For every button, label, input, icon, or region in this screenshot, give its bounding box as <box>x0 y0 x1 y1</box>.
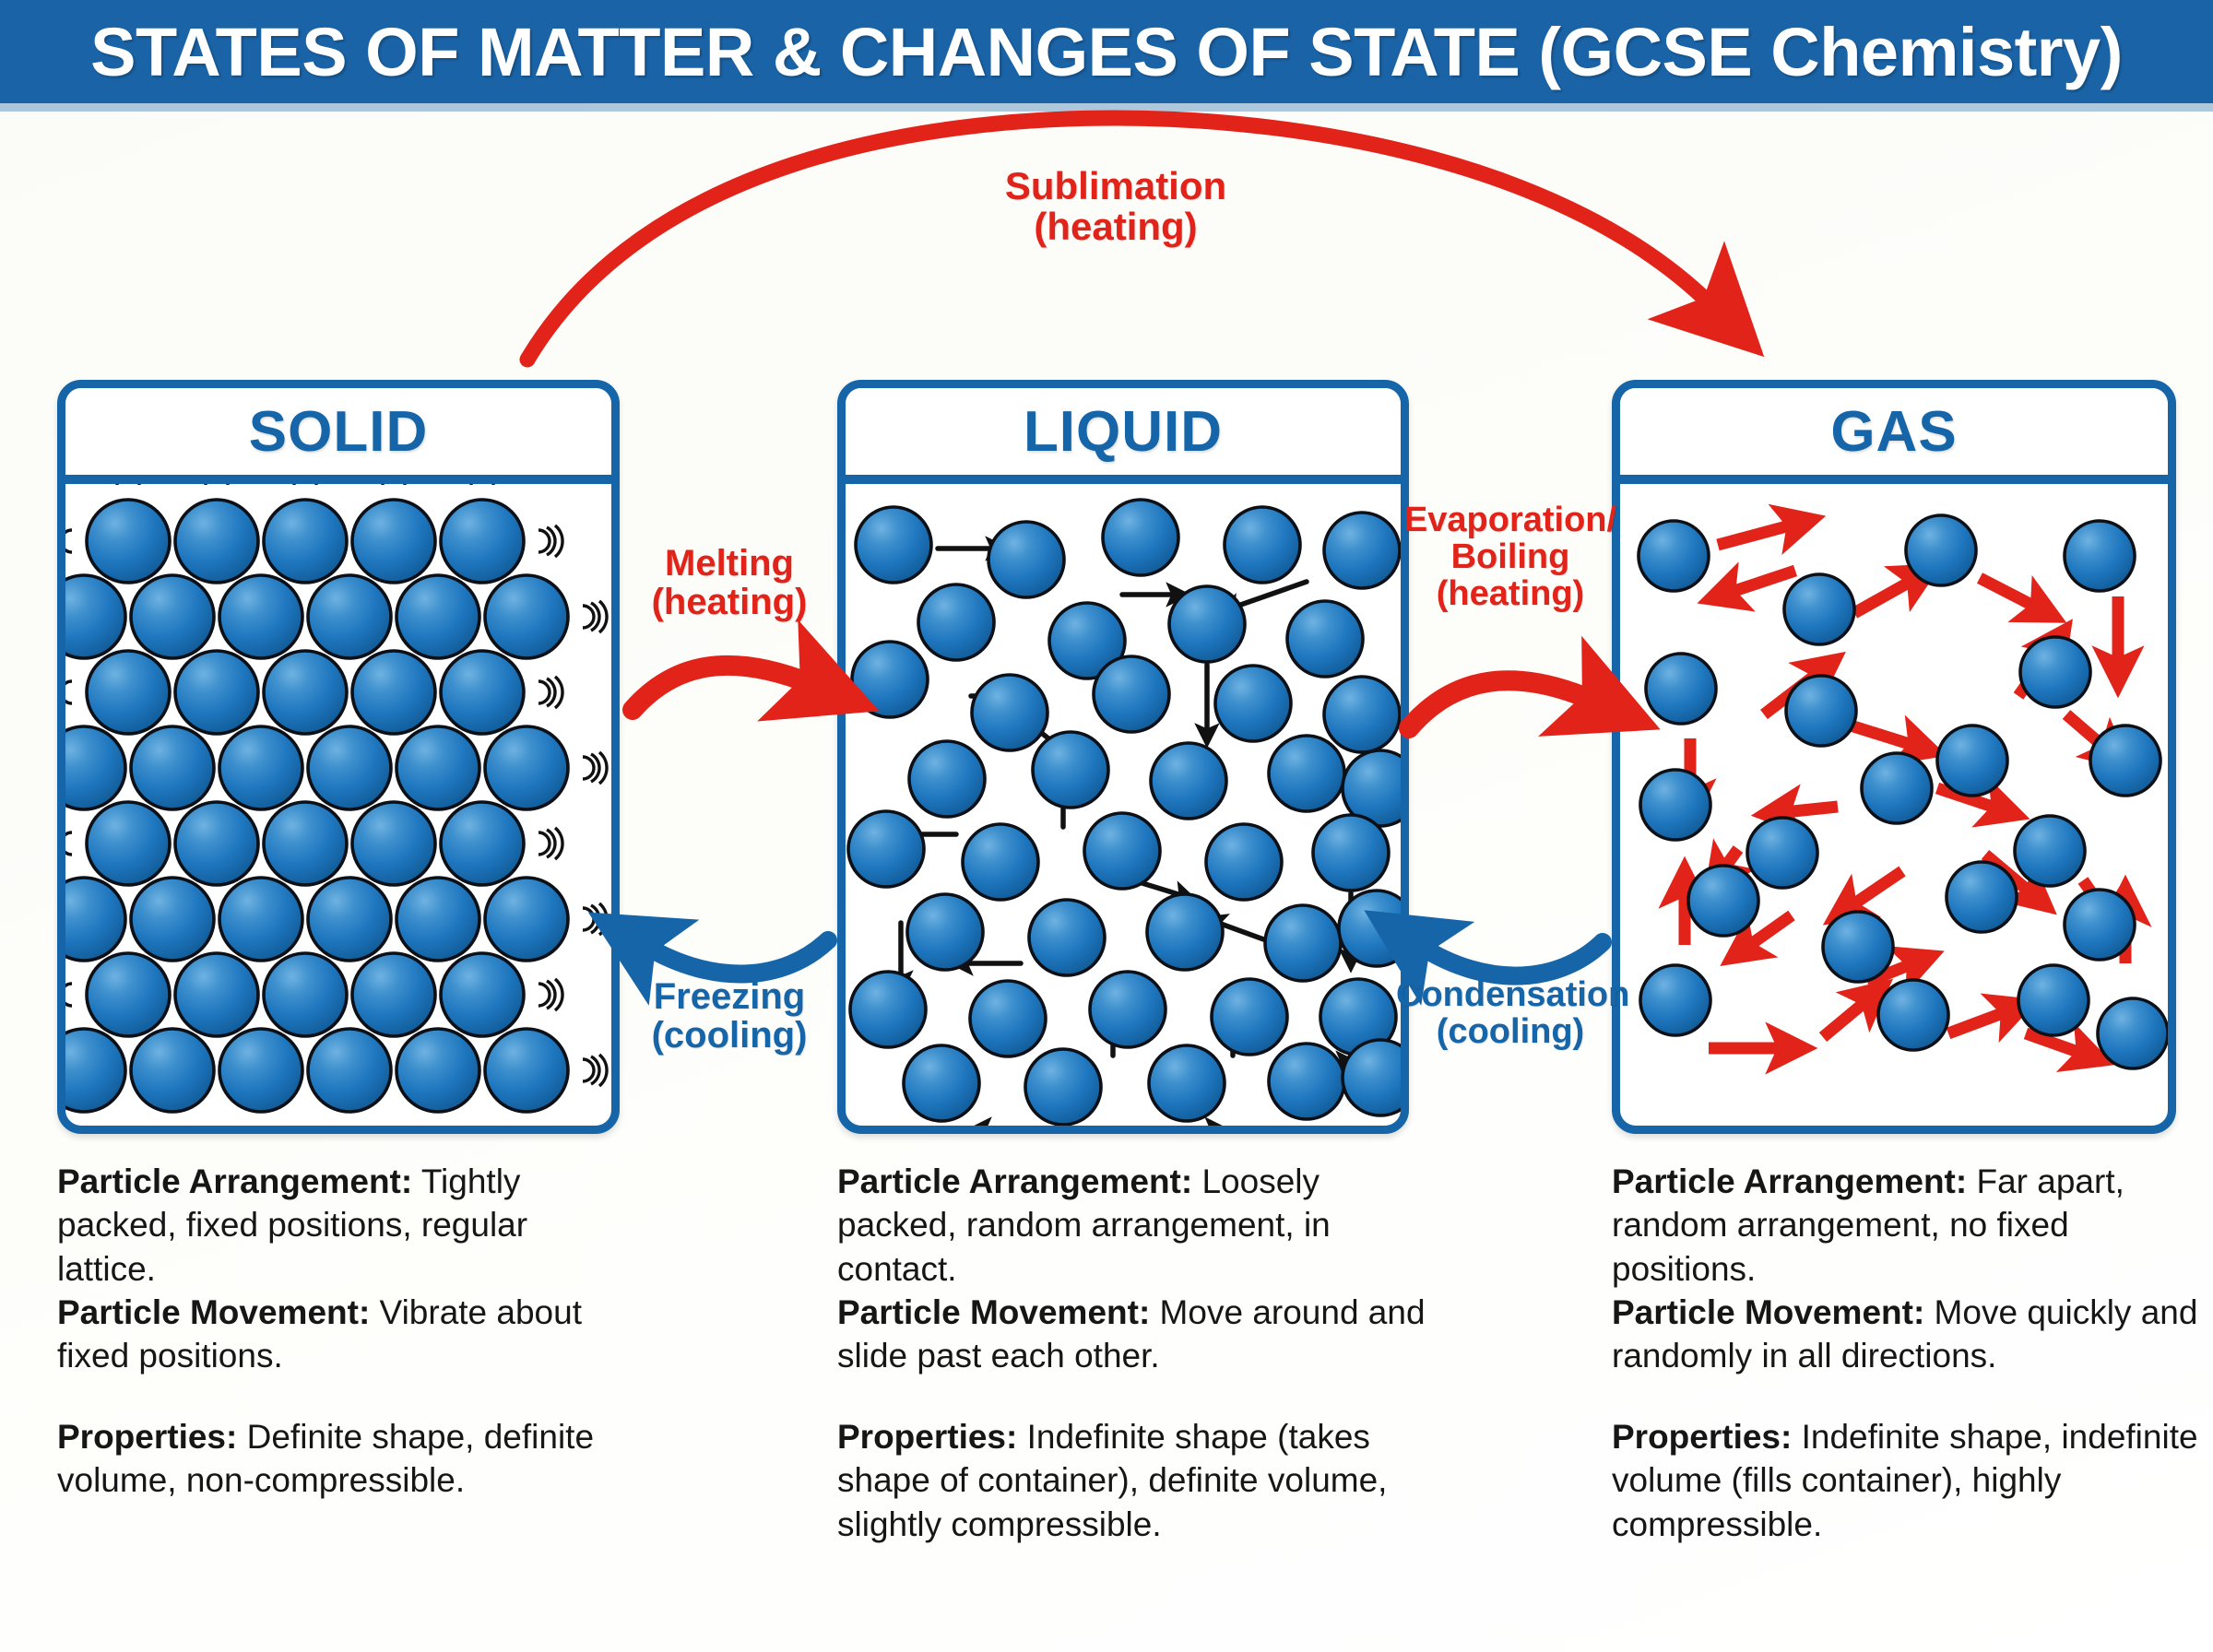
condensation-label: Condensation (cooling) <box>1396 977 1625 1051</box>
gas-motion-arrow-icon <box>1937 788 1998 808</box>
liquid-particle <box>1265 905 1341 981</box>
liquid-particle <box>1269 736 1344 811</box>
sublimation-label-line1: Sublimation <box>867 166 1365 206</box>
solid-particle <box>131 726 214 809</box>
solid-header: SOLID <box>65 388 611 484</box>
gas-particle <box>1646 654 1716 724</box>
liquid-particle <box>904 1045 979 1121</box>
solid-properties: Properties: Definite shape, definite vol… <box>57 1415 610 1503</box>
solid-particle <box>175 953 258 1036</box>
solid-particle <box>352 802 435 885</box>
solid-particle <box>87 500 170 583</box>
state-box-liquid[interactable]: LIQUID <box>837 380 1409 1134</box>
liquid-particle <box>852 642 928 717</box>
melting-label: Melting (heating) <box>620 544 839 621</box>
liquid-particle <box>1313 815 1389 891</box>
gas-particle-diagram <box>1620 484 2168 1126</box>
liquid-particle <box>970 981 1046 1056</box>
evaporation-boiling-label: Evaporation/ Boiling (heating) <box>1403 502 1617 613</box>
solid-particle-diagram <box>65 484 611 1126</box>
gas-motion-arrow-icon <box>1980 578 2037 608</box>
solid-particle <box>264 651 347 734</box>
solid-particle <box>441 500 524 583</box>
solid-particle <box>175 802 258 885</box>
liquid-particle <box>856 507 931 583</box>
vibration-line-icon <box>538 677 562 708</box>
gas-movement-label: Particle Movement: <box>1612 1293 1924 1331</box>
solid-particle <box>87 802 170 885</box>
evaporation-label-line2: Boiling <box>1403 539 1617 576</box>
liquid-particle <box>972 675 1047 750</box>
solid-particle <box>264 802 347 885</box>
liquid-particle <box>1103 500 1178 575</box>
solid-particle <box>441 802 524 885</box>
liquid-particle <box>1033 732 1108 808</box>
liquid-particle <box>963 824 1038 900</box>
liquid-motion-arrow-icon <box>1218 923 1279 945</box>
solid-particle <box>131 1029 214 1112</box>
solid-particle <box>219 1029 302 1112</box>
sublimation-label: Sublimation (heating) <box>867 166 1365 247</box>
solid-particle <box>264 500 347 583</box>
vibration-line-icon <box>290 484 321 485</box>
evaporation-label-line1: Evaporation/ <box>1403 502 1617 539</box>
vibration-line-icon <box>538 828 562 859</box>
liquid-particle <box>850 972 926 1047</box>
gas-motion-arrow-icon <box>1723 849 1738 869</box>
solid-particle <box>131 878 214 961</box>
solid-movement-label: Particle Movement: <box>57 1293 370 1331</box>
state-box-solid[interactable]: SOLID <box>57 380 620 1134</box>
gas-particle <box>1906 515 1976 585</box>
freezing-label: Freezing (cooling) <box>620 977 839 1055</box>
solid-particle <box>175 651 258 734</box>
liquid-particle <box>1269 1044 1344 1119</box>
liquid-particle <box>848 811 924 887</box>
gas-motion-arrow-icon <box>1747 915 1792 947</box>
gas-motion-arrow-icon <box>1948 1011 2007 1033</box>
solid-particle <box>219 726 302 809</box>
page-title: STATES OF MATTER & CHANGES OF STATE (GCS… <box>90 13 2123 91</box>
solid-particle <box>264 953 347 1036</box>
solid-particle <box>65 878 125 961</box>
liquid-particle <box>1090 972 1166 1047</box>
liquid-particle <box>1225 507 1300 583</box>
liquid-movement: Particle Movement: Move around and slide… <box>837 1291 1427 1378</box>
liquid-particle <box>1287 601 1363 677</box>
gas-particle <box>1878 980 1948 1050</box>
freezing-label-line1: Freezing <box>620 977 839 1016</box>
solid-properties-label: Properties: <box>57 1418 237 1456</box>
vibration-line-icon <box>201 484 232 485</box>
gas-motion-arrow-icon <box>1867 963 1913 982</box>
gas-desc-spacer <box>1612 1378 2202 1415</box>
gas-particles-svg <box>1620 484 2168 1126</box>
gas-particle <box>2098 998 2168 1068</box>
solid-particle <box>352 500 435 583</box>
liquid-particle <box>1169 586 1245 662</box>
gas-motion-arrow-icon <box>1985 855 2031 893</box>
gas-motion-arrow-icon <box>1718 525 1793 545</box>
gas-title: GAS <box>1830 399 1957 465</box>
gas-particle <box>2065 890 2135 960</box>
liquid-properties-label: Properties: <box>837 1418 1017 1456</box>
liquid-particle <box>1025 1049 1101 1125</box>
liquid-motion-arrow-icon <box>1133 880 1181 895</box>
solid-particle <box>485 726 568 809</box>
gas-arrangement: Particle Arrangement: Far apart, random … <box>1612 1160 2202 1291</box>
solid-particle <box>308 575 391 658</box>
gas-motion-arrow-icon <box>1851 871 1902 906</box>
solid-particles-svg <box>65 484 611 1126</box>
solid-particle <box>308 878 391 961</box>
liquid-particle <box>907 894 983 970</box>
gas-motion-arrow-icon <box>1823 1000 1867 1037</box>
freezing-arrow <box>645 940 828 974</box>
solid-particle <box>308 726 391 809</box>
gas-particle <box>1937 726 2007 796</box>
solid-arrangement: Particle Arrangement: Tightly packed, fi… <box>57 1160 610 1291</box>
condensation-label-line1: Condensation <box>1396 977 1625 1014</box>
vibration-line-icon <box>65 828 72 859</box>
liquid-particle <box>1094 656 1169 732</box>
solid-particle <box>308 1029 391 1112</box>
solid-particle <box>485 1029 568 1112</box>
gas-particle <box>1947 862 2017 932</box>
gas-motion-arrow-icon <box>2018 646 2053 696</box>
gas-particle <box>1639 521 1709 591</box>
gas-particle <box>1640 770 1710 840</box>
gas-properties-label: Properties: <box>1612 1418 1792 1456</box>
solid-particle <box>396 878 479 961</box>
vibration-line-icon <box>583 903 607 935</box>
gas-motion-arrow-icon <box>1784 807 1838 812</box>
liquid-particle <box>1324 513 1400 588</box>
vibration-line-icon <box>538 525 562 557</box>
liquid-motion-arrow-icon <box>1030 724 1076 761</box>
gas-particle <box>2015 816 2085 886</box>
liquid-particle <box>1049 603 1125 678</box>
gas-particle <box>2020 637 2090 707</box>
gas-description: Particle Arrangement: Far apart, random … <box>1612 1160 2202 1546</box>
sublimation-label-line2: (heating) <box>867 206 1365 247</box>
liquid-header: LIQUID <box>846 388 1401 484</box>
liquid-particle <box>1343 750 1401 826</box>
liquid-arrangement: Particle Arrangement: Loosely packed, ra… <box>837 1160 1427 1291</box>
solid-particle <box>219 878 302 961</box>
solid-particle <box>485 878 568 961</box>
vibration-line-icon <box>583 1055 607 1086</box>
vibration-line-icon <box>65 525 72 557</box>
solid-description: Particle Arrangement: Tightly packed, fi… <box>57 1160 610 1503</box>
liquid-properties: Properties: Indefinite shape (takes shap… <box>837 1415 1427 1546</box>
solid-particle <box>396 1029 479 1112</box>
liquid-particle <box>1206 824 1282 900</box>
solid-particle <box>441 651 524 734</box>
liquid-particle <box>1084 813 1160 889</box>
liquid-particle <box>1339 891 1401 966</box>
liquid-particle <box>909 741 985 817</box>
vibration-line-icon <box>112 484 144 485</box>
liquid-motion-arrow-icon <box>1233 582 1307 608</box>
gas-particle <box>1640 965 1710 1035</box>
gas-particle <box>1784 574 1854 644</box>
solid-particle <box>65 575 125 658</box>
solid-movement: Particle Movement: Vibrate about fixed p… <box>57 1291 610 1378</box>
solid-particle <box>352 651 435 734</box>
gas-motion-arrow-icon <box>2066 714 2107 749</box>
solid-desc-spacer <box>57 1378 610 1415</box>
solid-particle <box>87 953 170 1036</box>
gas-properties: Properties: Indefinite shape, indefinite… <box>1612 1415 2202 1546</box>
gas-particle <box>1747 818 1817 888</box>
solid-particle <box>131 575 214 658</box>
diagram-canvas: STATES OF MATTER & CHANGES OF STATE (GCS… <box>0 0 2213 1652</box>
vibration-line-icon <box>583 752 607 784</box>
solid-arrangement-label: Particle Arrangement: <box>57 1162 412 1200</box>
solid-title: SOLID <box>249 399 428 465</box>
gas-particle <box>1786 676 1856 746</box>
liquid-movement-label: Particle Movement: <box>837 1293 1150 1331</box>
solid-particle <box>352 953 435 1036</box>
solid-particle <box>396 575 479 658</box>
vibration-line-icon <box>467 484 498 485</box>
gas-particle <box>2018 965 2089 1035</box>
gas-arrangement-label: Particle Arrangement: <box>1612 1162 1967 1200</box>
gas-particle <box>1688 866 1758 936</box>
gas-motion-arrow-icon <box>1854 580 1913 613</box>
condensation-arrow <box>1420 942 1603 976</box>
liquid-arrangement-label: Particle Arrangement: <box>837 1162 1192 1200</box>
vibration-line-icon <box>583 601 607 632</box>
freezing-label-line2: (cooling) <box>620 1016 839 1055</box>
solid-particle <box>485 575 568 658</box>
vibration-line-icon <box>538 979 562 1010</box>
gas-motion-arrow-icon <box>1764 672 1819 714</box>
gas-motion-arrow-icon <box>2083 880 2109 917</box>
liquid-particle <box>1324 677 1400 752</box>
melting-label-line2: (heating) <box>620 583 839 621</box>
gas-particle <box>2065 521 2135 591</box>
solid-particle <box>175 500 258 583</box>
liquid-particle <box>1149 1045 1225 1121</box>
liquid-particle <box>988 522 1064 597</box>
liquid-particles-svg <box>846 484 1401 1126</box>
liquid-particle <box>1151 743 1226 819</box>
gas-particle <box>1823 912 1893 982</box>
liquid-particle <box>1320 979 1396 1055</box>
solid-particle <box>219 575 302 658</box>
gas-particle <box>2090 726 2160 796</box>
liquid-particle <box>918 584 994 660</box>
gas-motion-arrow-icon <box>1729 571 1795 593</box>
solid-particle <box>441 953 524 1036</box>
gas-motion-arrow-icon <box>1851 726 1915 746</box>
state-box-gas[interactable]: GAS <box>1612 380 2176 1134</box>
evaporation-label-line3: (heating) <box>1403 576 1617 613</box>
melting-label-line1: Melting <box>620 544 839 583</box>
gas-movement: Particle Movement: Move quickly and rand… <box>1612 1291 2202 1378</box>
solid-particle <box>87 651 170 734</box>
gas-particle <box>1862 753 1932 823</box>
vibration-line-icon <box>65 979 72 1010</box>
condensation-label-line2: (cooling) <box>1396 1014 1625 1051</box>
vibration-line-icon <box>65 677 72 708</box>
liquid-particle <box>1147 894 1223 970</box>
liquid-particle <box>1029 900 1105 975</box>
evaporation-arrow <box>1409 680 1593 728</box>
liquid-desc-spacer <box>837 1378 1427 1415</box>
page-title-bar: STATES OF MATTER & CHANGES OF STATE (GCS… <box>0 0 2213 103</box>
solid-particle <box>65 726 125 809</box>
liquid-particle <box>1215 666 1291 741</box>
gas-motion-arrow-icon <box>2026 1033 2083 1054</box>
liquid-title: LIQUID <box>1024 399 1223 465</box>
gas-header: GAS <box>1620 388 2168 484</box>
solid-particle <box>65 1029 125 1112</box>
liquid-particle <box>1343 1040 1401 1115</box>
vibration-line-icon <box>378 484 409 485</box>
solid-particle <box>396 726 479 809</box>
liquid-particle <box>1212 979 1287 1055</box>
melting-arrow <box>633 666 811 710</box>
liquid-particle-diagram <box>846 484 1401 1126</box>
liquid-description: Particle Arrangement: Loosely packed, ra… <box>837 1160 1427 1546</box>
title-underline-stripe <box>0 103 2213 112</box>
